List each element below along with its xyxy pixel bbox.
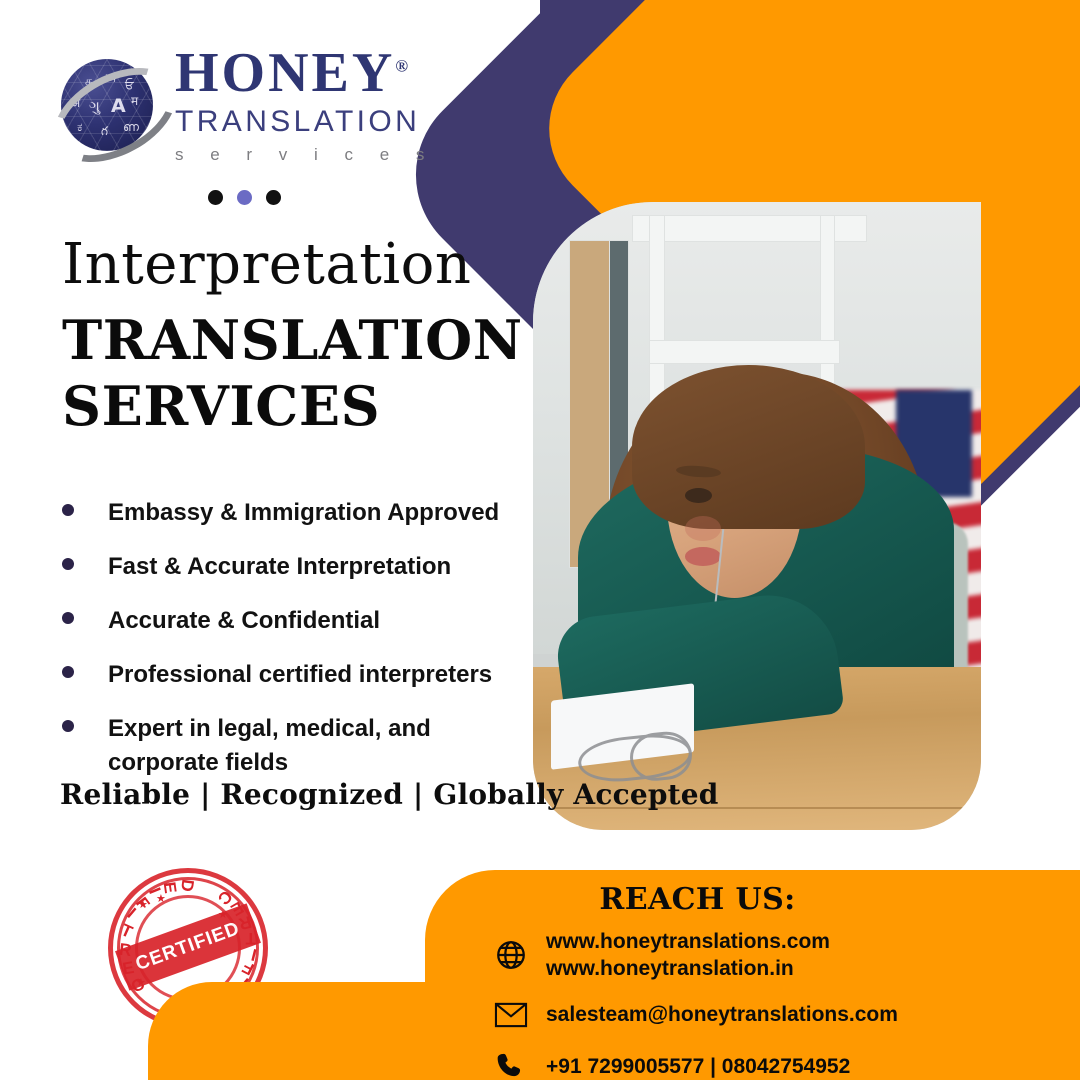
list-item-label: Professional certified interpreters xyxy=(108,658,492,692)
dot-1 xyxy=(208,190,223,205)
contact-row-email[interactable]: salesteam@honeytranslations.com xyxy=(490,995,1050,1035)
tagline: Reliable | Recognized | Globally Accepte… xyxy=(60,778,719,811)
logo-name-text: HONEY xyxy=(175,42,395,104)
bullet-dot-icon xyxy=(62,720,74,732)
bullet-dot-icon xyxy=(62,558,74,570)
contact-phone-text[interactable]: +91 7299005577 | 08042754952 xyxy=(546,1053,850,1080)
list-item: Embassy & Immigration Approved xyxy=(56,496,526,530)
contact-website-text: www.honeytranslations.com www.honeytrans… xyxy=(546,928,830,983)
contact-row-website[interactable]: www.honeytranslations.com www.honeytrans… xyxy=(490,928,1050,983)
photo-hair-front xyxy=(632,365,865,528)
headline-line-2: SERVICES xyxy=(62,374,532,440)
flyer-canvas: க অ ਓ अ ગુ म A ಕ గ ണ HONEY® TRANSLATION … xyxy=(0,0,1080,1080)
list-item: Expert in legal, medical, and corporate … xyxy=(56,712,526,780)
contact-title: REACH US: xyxy=(425,882,970,917)
phone-icon xyxy=(490,1047,532,1080)
dot-3 xyxy=(266,190,281,205)
list-item: Professional certified interpreters xyxy=(56,658,526,692)
headline-line-1: TRANSLATION xyxy=(62,308,532,374)
headline-script: Interpretation xyxy=(62,232,471,297)
globe-languages-icon: க অ ਓ अ ગુ म A ಕ గ ണ xyxy=(55,53,163,161)
bullet-dot-icon xyxy=(62,612,74,624)
brand-logo[interactable]: க অ ਓ अ ગુ म A ಕ గ ണ HONEY® TRANSLATION … xyxy=(55,45,415,175)
photo-eye xyxy=(685,488,712,503)
features-list: Embassy & Immigration Approved Fast & Ac… xyxy=(56,496,526,800)
list-item: Accurate & Confidential xyxy=(56,604,526,638)
logo-subtitle: TRANSLATION xyxy=(175,103,475,141)
website-secondary[interactable]: www.honeytranslation.in xyxy=(546,955,830,982)
photo-cheek xyxy=(685,516,721,541)
stamp-arc-letter: D xyxy=(176,878,198,893)
list-item-label: Fast & Accurate Interpretation xyxy=(108,550,451,584)
list-item: Fast & Accurate Interpretation xyxy=(56,550,526,584)
dot-2 xyxy=(237,190,252,205)
page-title: TRANSLATION SERVICES xyxy=(62,308,532,440)
decorative-dots xyxy=(208,190,281,205)
envelope-icon xyxy=(490,995,532,1035)
contact-row-phone[interactable]: +91 7299005577 | 08042754952 xyxy=(490,1047,1050,1080)
logo-tertiary: s e r v i c e s xyxy=(175,145,475,165)
registered-trademark-icon: ® xyxy=(395,56,408,75)
stamp-arc-letter: T xyxy=(118,920,136,942)
list-item-label: Accurate & Confidential xyxy=(108,604,380,638)
stamp-star-icon: ★ xyxy=(138,898,148,911)
contact-list: www.honeytranslations.com www.honeytrans… xyxy=(490,928,1050,1080)
website-primary[interactable]: www.honeytranslations.com xyxy=(546,928,830,955)
logo-wordmark: HONEY® TRANSLATION s e r v i c e s xyxy=(175,45,475,165)
bullet-dot-icon xyxy=(62,666,74,678)
stamp-star-icon: ★ xyxy=(156,892,166,905)
list-item-label: Embassy & Immigration Approved xyxy=(108,496,499,530)
bullet-dot-icon xyxy=(62,504,74,516)
logo-name: HONEY® xyxy=(175,45,475,101)
hero-photo xyxy=(533,202,981,830)
contact-email-text[interactable]: salesteam@honeytranslations.com xyxy=(546,1001,898,1028)
globe-icon xyxy=(490,935,532,975)
photo-shelf xyxy=(649,340,839,364)
list-item-label: Expert in legal, medical, and corporate … xyxy=(108,712,458,780)
